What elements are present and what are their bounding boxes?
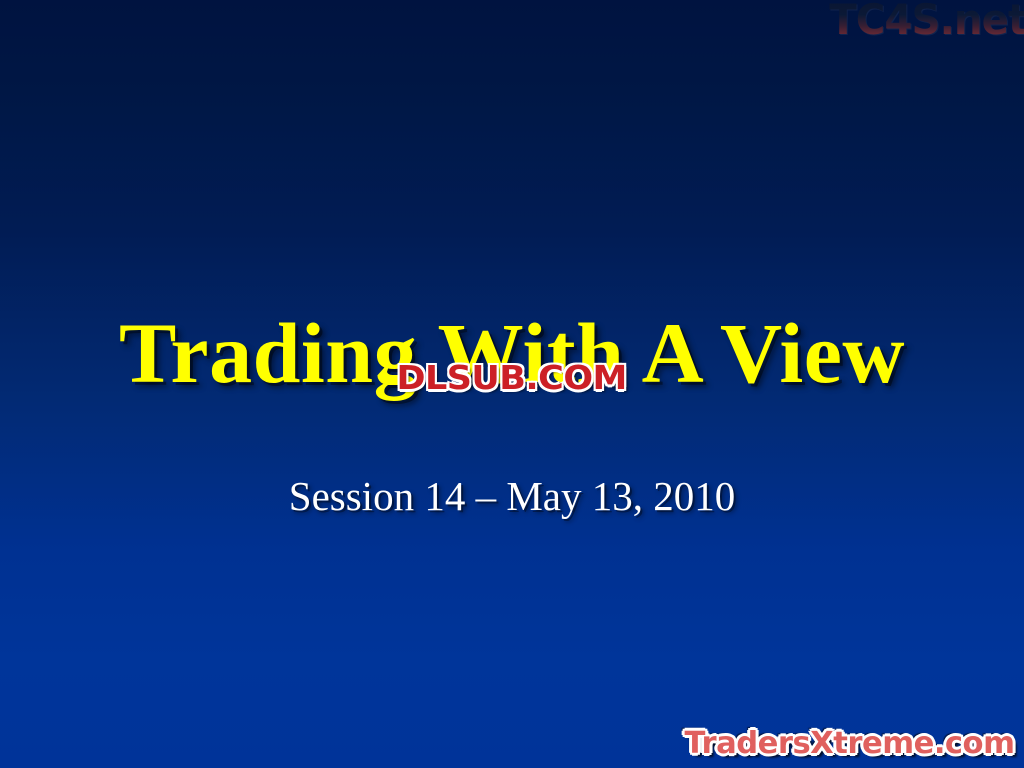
slide-title: Trading With A View: [119, 310, 905, 396]
slide-subtitle: Session 14 – May 13, 2010: [289, 475, 735, 518]
presentation-slide: TC4S.net Trading With A View DLSUB.COM S…: [0, 0, 1024, 768]
tc4s-watermark-text: TC4S.net: [829, 0, 1024, 42]
tradersxtreme-watermark-text: TradersXtreme.com: [684, 727, 1014, 760]
tc4s-watermark: TC4S.net: [821, 0, 1024, 42]
title-block: Trading With A View: [0, 252, 1024, 453]
tradersxtreme-watermark: TradersXtreme.com: [691, 727, 1014, 760]
subtitle-block: Session 14 – May 13, 2010: [0, 441, 1024, 552]
